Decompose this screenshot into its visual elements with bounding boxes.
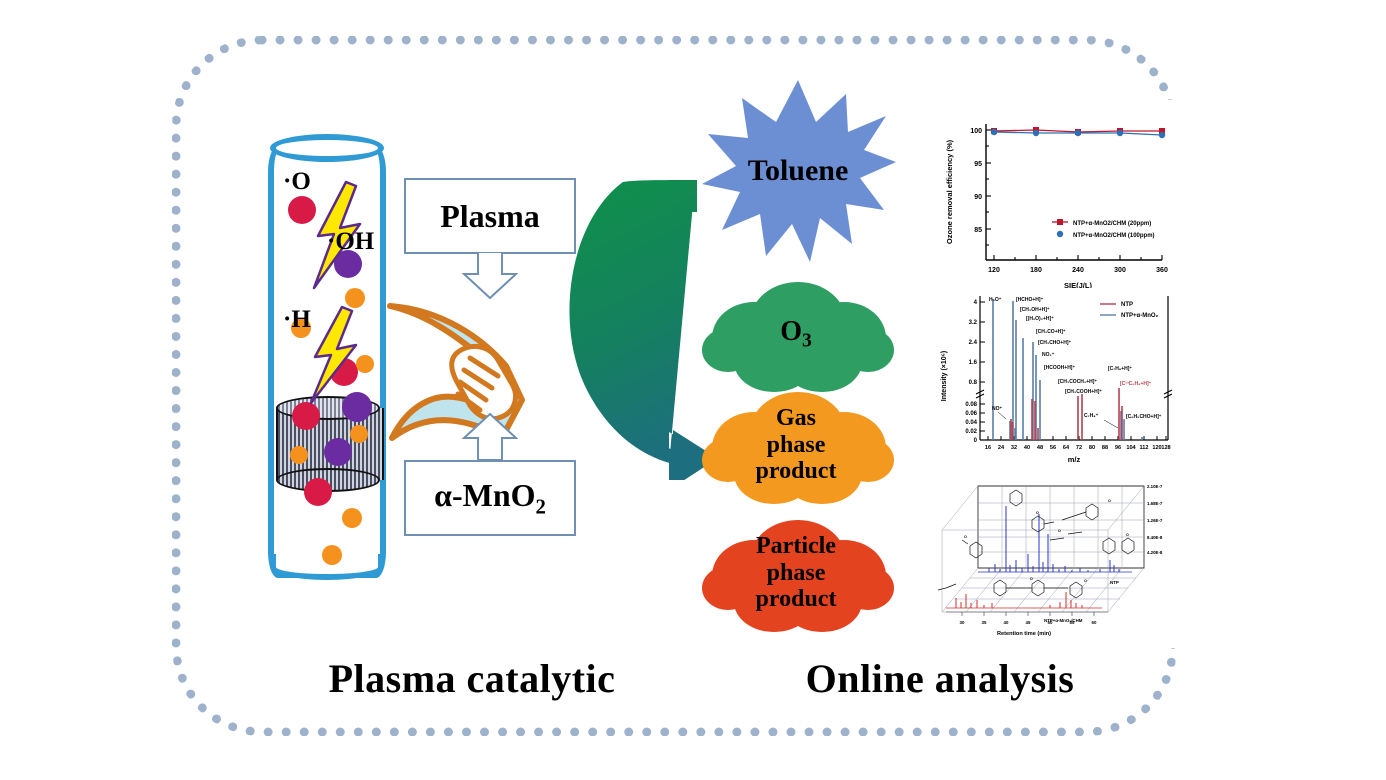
ytick: 0 (974, 438, 978, 444)
annotation: [CH₃CO+H]⁺ (1036, 329, 1066, 335)
ztick: 1.68E-7 (1147, 501, 1163, 506)
svg-text:O: O (1058, 529, 1061, 533)
annotation: [HCHO+H]⁺ (1016, 297, 1044, 303)
legend-label: NTP+α-MnO₂ (1121, 313, 1159, 319)
xtick: 180 (1030, 267, 1042, 274)
annotation: [(H₂O)₂+H]⁺ (1026, 316, 1054, 322)
xtick: 72 (1076, 445, 1082, 451)
xtick: 56 (1050, 445, 1056, 451)
particle-phase-label: Particle phase product (698, 510, 894, 636)
ytick: 4 (974, 300, 978, 306)
xtick: 60 (1092, 620, 1097, 625)
xtick: 112 (1139, 445, 1148, 451)
catalyst-up-arrow-icon (458, 412, 522, 460)
plasma-box: Plasma (404, 178, 576, 254)
xtick: 96 (1115, 445, 1121, 451)
xtick: 240 (1072, 267, 1084, 274)
annotation: [HCOOH+H]⁺ (1044, 365, 1075, 371)
y-axis-label: Ozone removal efficiency (%) (945, 139, 954, 244)
xtick: 360 (1156, 267, 1168, 274)
ytick: 1.6 (969, 360, 978, 366)
ytick: 0.02 (965, 429, 977, 435)
xtick: 40 (1024, 445, 1030, 451)
tube-rim (270, 134, 384, 162)
xtick: 80 (1089, 445, 1095, 451)
toluene-star: Toluene (700, 78, 896, 264)
ztick: 1.26E-7 (1147, 518, 1163, 523)
svg-text:O: O (1126, 533, 1129, 537)
svg-text:O: O (1030, 577, 1033, 581)
plasma-box-label: Plasma (440, 198, 540, 235)
annotation: NO₂⁺ (1042, 352, 1055, 358)
chart-legend: NTP+α-MnO2/CHM (20ppm) NTP+α-MnO2/CHM (1… (1052, 219, 1155, 239)
annotation: [C₇H₈+H]⁺ (1108, 366, 1132, 372)
ztick: 2.10E-7 (1147, 484, 1163, 489)
molecule-structures (938, 490, 1134, 598)
xtick: 300 (1114, 267, 1126, 274)
particle-orange (350, 425, 368, 443)
ytick: 0.8 (969, 380, 978, 386)
ytick: 2.4 (969, 340, 978, 346)
particle-red (304, 478, 332, 506)
particle-orange (342, 508, 362, 528)
series-label-ntp: NTP (1110, 580, 1119, 585)
svg-text:O: O (1084, 579, 1087, 583)
legend-label: NTP+α-MnO2/CHM (20ppm) (1073, 221, 1151, 227)
ytick: 0.04 (965, 420, 977, 426)
radical-label-h: ·H (283, 306, 311, 334)
xtick: 64 (1063, 445, 1070, 451)
xtick: 45 (1026, 620, 1031, 625)
annotation: [C₆H₅CHO+H]⁺ (1126, 414, 1162, 420)
xtick: 16 (985, 445, 991, 451)
ytick: 95 (974, 161, 982, 168)
lightning-bolt-icon (308, 305, 360, 405)
catalyst-box-label: α-MnO2 (434, 477, 546, 519)
xtick: 48 (1037, 445, 1043, 451)
annotation: [CH₃CHO+H]⁺ (1038, 340, 1072, 346)
svg-text:O: O (1108, 499, 1111, 503)
particle-purple (324, 438, 352, 466)
annotation: C₇H₈⁺ (1084, 413, 1099, 419)
xtick: 35 (982, 620, 987, 625)
ytick: 3.2 (969, 320, 978, 326)
ozone-cloud: O3 (698, 272, 894, 396)
annotation: [CH₃COOH+H]⁺ (1065, 389, 1102, 395)
right-caption: Online analysis (790, 655, 1090, 702)
ytick: 0.08 (965, 402, 977, 408)
plasma-down-arrow-icon (458, 252, 522, 300)
radical-label-oh: ·OH (327, 228, 374, 256)
xtick: 40 (1004, 620, 1009, 625)
ytick: 0.06 (965, 411, 977, 417)
xtick: 30 (960, 620, 965, 625)
particle-orange (290, 446, 308, 464)
annotation: [CH₃COCH₃+H]⁺ (1058, 379, 1097, 385)
annotation: H₃O⁺ (989, 297, 1002, 303)
left-caption: Plasma catalytic (282, 655, 662, 702)
xtick: 32 (1011, 445, 1017, 451)
xtick: 50 (1048, 620, 1053, 625)
gas-phase-label: Gas phase product (698, 382, 894, 508)
ytick: 85 (974, 227, 982, 234)
catalyst-box: α-MnO2 (404, 460, 576, 536)
toluene-label: Toluene (700, 78, 896, 264)
particle-red (292, 402, 320, 430)
chart-legend: NTP NTP+α-MnO₂ (1100, 302, 1159, 319)
x-axis-label: Retention time (min) (997, 631, 1051, 637)
xtick: 128 (1161, 445, 1170, 451)
svg-text:O: O (964, 535, 967, 539)
ozone-removal-chart: 100 95 90 85 120 180 240 300 360 (934, 100, 1178, 292)
y-axis-label: Intensity (×10⁶) (941, 351, 948, 402)
ytick: 100 (970, 128, 982, 135)
ozone-label: O3 (698, 272, 894, 396)
xtick: 24 (998, 445, 1005, 451)
ztick: 4.20E-8 (1147, 550, 1163, 555)
annotation: NO⁺ (992, 406, 1003, 412)
annotation: [C¹³C₆H₈+H]⁺ (1120, 381, 1152, 387)
annotation: [CH₃OH+H]⁺ (1020, 307, 1050, 313)
ztick: 8.40E-8 (1147, 535, 1163, 540)
xtick: 55 (1070, 620, 1075, 625)
xtick: 120 (1152, 445, 1161, 451)
x-axis-label: m/z (1068, 455, 1081, 464)
radical-label-o: ·O (283, 168, 311, 196)
xtick: 88 (1102, 445, 1108, 451)
xtick: 104 (1126, 445, 1136, 451)
mass-spectrum-chart: 4 3.2 2.4 1.6 0.8 0.08 0.06 0.04 0.02 0 … (932, 288, 1180, 476)
gcms-3d-chromatogram: 2.10E-7 1.68E-7 1.26E-7 8.40E-8 4.20E-8 (932, 472, 1180, 648)
gas-phase-cloud: Gas phase product (698, 382, 894, 508)
series-peaks-ntp (1011, 388, 1122, 440)
ytick: 90 (974, 194, 982, 201)
svg-text:O: O (1036, 511, 1039, 515)
legend-label: NTP (1121, 302, 1133, 308)
particle-phase-cloud: Particle phase product (698, 510, 894, 636)
particle-orange (322, 545, 342, 565)
legend-label: NTP+α-MnO2/CHM (100ppm) (1073, 233, 1155, 239)
xtick: 120 (988, 267, 1000, 274)
